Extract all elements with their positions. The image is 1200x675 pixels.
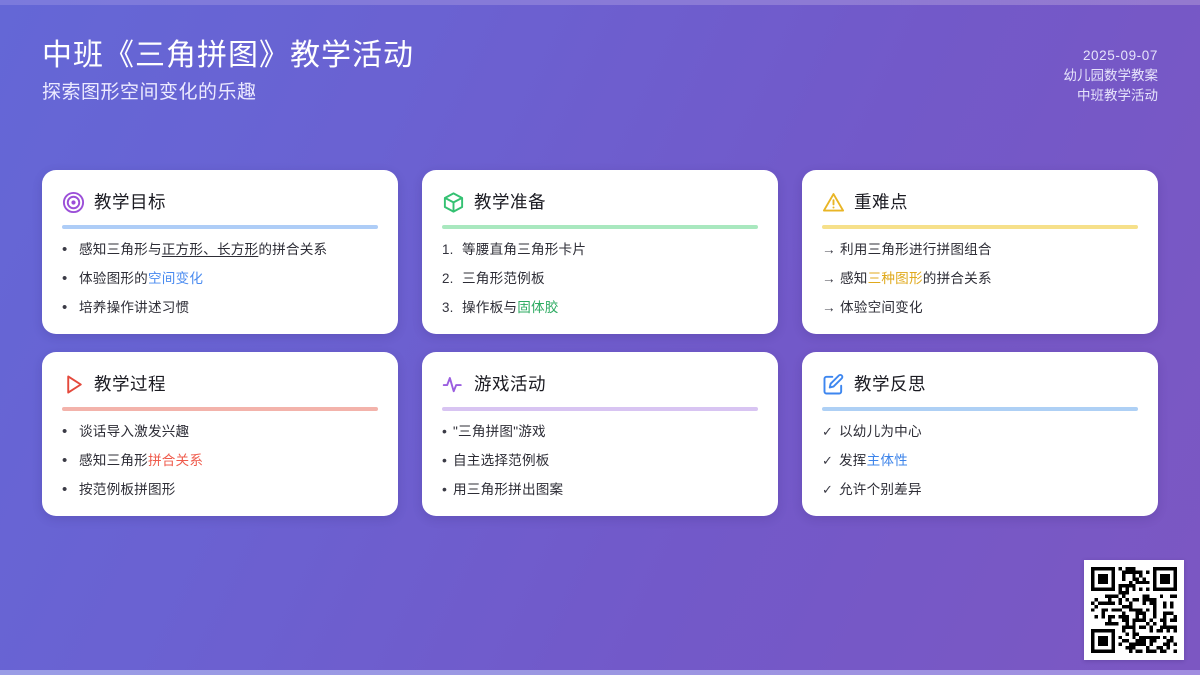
list-item: •自主选择范例板 bbox=[442, 451, 758, 471]
list-item-text: 培养操作讲述习惯 bbox=[79, 298, 378, 318]
card-key-points[interactable]: 重难点→利用三角形进行拼图组合→感知三种图形的拼合关系→体验空间变化 bbox=[802, 170, 1158, 334]
card-header: 教学准备 bbox=[442, 188, 758, 216]
list-marker: 3. bbox=[442, 298, 462, 318]
card-item-list: ✓以幼儿为中心✓发挥主体性✓允许个别差异 bbox=[822, 422, 1138, 500]
list-marker: ✓ bbox=[822, 480, 839, 500]
card-game[interactable]: 游戏活动•"三角拼图"游戏•自主选择范例板•用三角形拼出图案 bbox=[422, 352, 778, 516]
qr-code[interactable] bbox=[1084, 560, 1184, 660]
list-marker: • bbox=[62, 422, 79, 441]
card-accent-rule bbox=[822, 407, 1138, 411]
list-marker: • bbox=[62, 240, 79, 259]
card-title: 教学准备 bbox=[474, 191, 546, 214]
target-icon bbox=[62, 191, 85, 214]
item-text-segment: "三角拼图"游戏 bbox=[453, 424, 546, 439]
header-meta: 2025-09-07 幼儿园数学教案 中班教学活动 bbox=[1064, 46, 1159, 106]
qr-code-image bbox=[1091, 567, 1177, 653]
slide-canvas: 中班《三角拼图》教学活动 探索图形空间变化的乐趣 2025-09-07 幼儿园数… bbox=[0, 0, 1200, 675]
list-item-text: 等腰直角三角形卡片 bbox=[462, 240, 758, 260]
list-item-text: 以幼儿为中心 bbox=[839, 422, 1138, 442]
item-text-segment: 用三角形拼出图案 bbox=[453, 482, 563, 497]
meta-subject: 中班教学活动 bbox=[1064, 86, 1159, 106]
list-item: ✓允许个别差异 bbox=[822, 480, 1138, 500]
list-marker: → bbox=[822, 240, 840, 260]
list-marker: → bbox=[822, 298, 840, 318]
list-item-text: 用三角形拼出图案 bbox=[453, 480, 758, 500]
item-text-segment: 允许个别差异 bbox=[839, 482, 922, 497]
item-text-segment: 的拼合关系 bbox=[923, 271, 992, 286]
item-text-segment: 培养操作讲述习惯 bbox=[79, 300, 189, 315]
card-title: 重难点 bbox=[854, 191, 908, 214]
item-text-segment: 谈话导入激发兴趣 bbox=[79, 424, 189, 439]
card-reflection[interactable]: 教学反思✓以幼儿为中心✓发挥主体性✓允许个别差异 bbox=[802, 352, 1158, 516]
list-item: →感知三种图形的拼合关系 bbox=[822, 269, 1138, 289]
card-title: 教学反思 bbox=[854, 373, 926, 396]
list-marker: • bbox=[62, 451, 79, 470]
list-item-text: 按范例板拼图形 bbox=[79, 480, 378, 500]
list-marker: • bbox=[442, 480, 453, 499]
list-item: •按范例板拼图形 bbox=[62, 480, 378, 500]
card-title: 教学过程 bbox=[94, 373, 166, 396]
card-header: 重难点 bbox=[822, 188, 1138, 216]
item-text-segment: 以幼儿为中心 bbox=[839, 424, 922, 439]
item-text-segment: 空间变化 bbox=[148, 271, 203, 286]
card-item-list: •感知三角形与正方形、长方形的拼合关系•体验图形的空间变化•培养操作讲述习惯 bbox=[62, 240, 378, 318]
card-process[interactable]: 教学过程•谈话导入激发兴趣•感知三角形拼合关系•按范例板拼图形 bbox=[42, 352, 398, 516]
list-item: ✓发挥主体性 bbox=[822, 451, 1138, 471]
item-text-segment: 自主选择范例板 bbox=[453, 453, 550, 468]
item-text-segment: 的拼合关系 bbox=[258, 242, 327, 257]
item-text-segment: 体验图形的 bbox=[79, 271, 148, 286]
card-grid: 教学目标•感知三角形与正方形、长方形的拼合关系•体验图形的空间变化•培养操作讲述… bbox=[42, 170, 1158, 516]
list-item-text: 自主选择范例板 bbox=[453, 451, 758, 471]
list-marker: • bbox=[442, 422, 453, 441]
list-item: •感知三角形与正方形、长方形的拼合关系 bbox=[62, 240, 378, 260]
list-marker: • bbox=[62, 298, 79, 317]
list-item-text: 感知三角形与正方形、长方形的拼合关系 bbox=[79, 240, 378, 260]
list-item-text: 利用三角形进行拼图组合 bbox=[840, 240, 1138, 260]
item-text-segment: 固体胶 bbox=[517, 300, 558, 315]
list-marker: • bbox=[62, 480, 79, 499]
list-item: 2.三角形范例板 bbox=[442, 269, 758, 289]
list-item: ✓以幼儿为中心 bbox=[822, 422, 1138, 442]
list-item: 3.操作板与固体胶 bbox=[442, 298, 758, 318]
card-item-list: 1.等腰直角三角形卡片2.三角形范例板3.操作板与固体胶 bbox=[442, 240, 758, 318]
card-objectives[interactable]: 教学目标•感知三角形与正方形、长方形的拼合关系•体验图形的空间变化•培养操作讲述… bbox=[42, 170, 398, 334]
list-marker: • bbox=[442, 451, 453, 470]
item-text-segment: 按范例板拼图形 bbox=[79, 482, 176, 497]
list-marker: ✓ bbox=[822, 451, 839, 471]
box-icon bbox=[442, 191, 465, 214]
list-item-text: 谈话导入激发兴趣 bbox=[79, 422, 378, 442]
item-text-segment: 利用三角形进行拼图组合 bbox=[840, 242, 992, 257]
card-accent-rule bbox=[822, 225, 1138, 229]
slide-header: 中班《三角拼图》教学活动 探索图形空间变化的乐趣 2025-09-07 幼儿园数… bbox=[42, 36, 1158, 132]
top-edge-strip bbox=[0, 0, 1200, 5]
card-title: 游戏活动 bbox=[474, 373, 546, 396]
item-text-segment: 等腰直角三角形卡片 bbox=[462, 242, 586, 257]
list-marker: 1. bbox=[442, 240, 462, 260]
list-item: →利用三角形进行拼图组合 bbox=[822, 240, 1138, 260]
meta-category: 幼儿园数学教案 bbox=[1064, 66, 1159, 86]
card-accent-rule bbox=[442, 225, 758, 229]
list-item: •用三角形拼出图案 bbox=[442, 480, 758, 500]
list-item: 1.等腰直角三角形卡片 bbox=[442, 240, 758, 260]
list-item-text: "三角拼图"游戏 bbox=[453, 422, 758, 442]
title-block: 中班《三角拼图》教学活动 探索图形空间变化的乐趣 bbox=[42, 36, 414, 108]
card-header: 教学反思 bbox=[822, 370, 1138, 398]
card-item-list: •"三角拼图"游戏•自主选择范例板•用三角形拼出图案 bbox=[442, 422, 758, 500]
list-item-text: 发挥主体性 bbox=[839, 451, 1138, 471]
list-item-text: 感知三角形拼合关系 bbox=[79, 451, 378, 471]
list-item-text: 操作板与固体胶 bbox=[462, 298, 758, 318]
meta-date: 2025-09-07 bbox=[1064, 46, 1159, 66]
card-title: 教学目标 bbox=[94, 191, 166, 214]
play-triangle-icon bbox=[62, 373, 85, 396]
list-item-text: 允许个别差异 bbox=[839, 480, 1138, 500]
item-text-segment: 正方形、长方形 bbox=[162, 242, 259, 257]
list-marker: → bbox=[822, 269, 840, 289]
list-item-text: 体验空间变化 bbox=[840, 298, 1138, 318]
item-text-segment: 发挥 bbox=[839, 453, 867, 468]
item-text-segment: 三种图形 bbox=[868, 271, 923, 286]
list-item: •培养操作讲述习惯 bbox=[62, 298, 378, 318]
list-item: •谈话导入激发兴趣 bbox=[62, 422, 378, 442]
card-accent-rule bbox=[442, 407, 758, 411]
item-text-segment: 拼合关系 bbox=[148, 453, 203, 468]
list-marker: ✓ bbox=[822, 422, 839, 442]
list-item-text: 感知三种图形的拼合关系 bbox=[840, 269, 1138, 289]
page-subtitle: 探索图形空间变化的乐趣 bbox=[42, 78, 414, 108]
item-text-segment: 感知三角形 bbox=[79, 453, 148, 468]
item-text-segment: 体验空间变化 bbox=[840, 300, 923, 315]
activity-pulse-icon bbox=[442, 373, 465, 396]
item-text-segment: 三角形范例板 bbox=[462, 271, 545, 286]
list-item: •"三角拼图"游戏 bbox=[442, 422, 758, 442]
card-header: 教学目标 bbox=[62, 188, 378, 216]
card-accent-rule bbox=[62, 225, 378, 229]
list-marker: • bbox=[62, 269, 79, 288]
list-marker: 2. bbox=[442, 269, 462, 289]
item-text-segment: 操作板与 bbox=[462, 300, 517, 315]
item-text-segment: 感知三角形与 bbox=[79, 242, 162, 257]
list-item-text: 体验图形的空间变化 bbox=[79, 269, 378, 289]
bottom-edge-strip bbox=[0, 670, 1200, 675]
card-accent-rule bbox=[62, 407, 378, 411]
edit-square-icon bbox=[822, 373, 845, 396]
list-item-text: 三角形范例板 bbox=[462, 269, 758, 289]
card-item-list: •谈话导入激发兴趣•感知三角形拼合关系•按范例板拼图形 bbox=[62, 422, 378, 500]
card-preparation[interactable]: 教学准备1.等腰直角三角形卡片2.三角形范例板3.操作板与固体胶 bbox=[422, 170, 778, 334]
item-text-segment: 感知 bbox=[840, 271, 868, 286]
card-item-list: →利用三角形进行拼图组合→感知三种图形的拼合关系→体验空间变化 bbox=[822, 240, 1138, 318]
card-header: 教学过程 bbox=[62, 370, 378, 398]
list-item: →体验空间变化 bbox=[822, 298, 1138, 318]
card-header: 游戏活动 bbox=[442, 370, 758, 398]
list-item: •感知三角形拼合关系 bbox=[62, 451, 378, 471]
list-item: •体验图形的空间变化 bbox=[62, 269, 378, 289]
warning-triangle-icon bbox=[822, 191, 845, 214]
page-title: 中班《三角拼图》教学活动 bbox=[42, 36, 414, 76]
item-text-segment: 主体性 bbox=[867, 453, 908, 468]
